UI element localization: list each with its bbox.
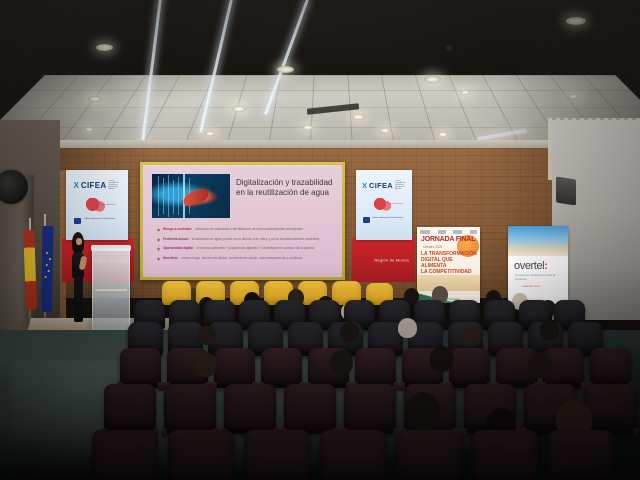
seat[interactable] [214,348,255,388]
ceiling-downlight-9 [205,131,215,136]
overtel-url: overtel.com [522,284,540,288]
audience-head [430,346,454,372]
audience-head [398,318,417,338]
bullet-rest: detección de sustancias e identificación… [195,227,303,232]
seat[interactable] [224,384,276,434]
slide-bullet-item: ◆ Beneficio: menor riesgo, decisiones fi… [157,256,332,261]
eu-flag-chip-right [363,217,370,223]
seat[interactable] [120,348,161,388]
flag-spain [23,230,37,310]
event-poster: JORNADA FINAL Octubre 2025 LA TRANSFORMA… [417,227,480,303]
audience-head [528,352,552,378]
seat[interactable] [396,430,462,480]
cifea-x-icon: X [74,181,79,190]
lectern-shelf [95,289,127,291]
bullet-dot-icon: ◆ [157,237,160,242]
ceiling-sprinkler [446,45,452,51]
projection-screen: Digitalización y trazabilidad en la reut… [143,165,342,277]
audience-head [540,320,559,340]
poster-date: Octubre 2025 [423,245,442,249]
poster-subheading: LA TRANSFORMACIÓN DIGITAL QUE ALIMENTA L… [421,251,477,275]
cifea-wordmark: CIFEA [81,181,107,190]
audience-head [462,326,481,346]
seat[interactable] [320,430,386,480]
presenter [70,232,87,324]
slide-bullet-item: ◆ Riesgo a controlar: detección de susta… [157,227,332,232]
overtel-sky-graphic [508,226,568,256]
murcia-map-label-right: Región de Murcia [387,203,403,205]
seat[interactable] [584,384,636,434]
eu-flag-chip-left [74,218,81,224]
cifea-sub-right: Centros Integrados de Formación y Experi… [395,180,406,190]
slide-title-line1: Digitalización y trazabilidad [236,178,336,188]
seat[interactable] [344,384,396,434]
cifea-logo-left: X CIFEA Centros Integrados de Formación … [74,180,121,190]
seat[interactable] [590,348,631,388]
audience-head [194,352,217,377]
ceiling-downlight-7 [352,114,365,120]
seat-row-6 [92,430,614,480]
seat[interactable] [168,430,234,480]
slide-bullet-item: ◆ Oportunidad digital: sensórica avanzad… [157,246,332,251]
eu-text-right: Cofinanciado por la Unión Europea [372,217,408,220]
bullet-lead: Problema actual: [163,237,189,242]
audience-head [330,350,353,375]
audience-head [198,326,216,345]
poster-band [417,275,480,291]
slide-title: Digitalización y trazabilidad en la reut… [236,178,336,198]
ceiling-downlight-13 [460,90,470,95]
ceiling-downlight-5 [88,96,102,102]
bullet-rest: sensórica avanzada + plataformas digital… [197,246,315,251]
audience-head [406,392,440,430]
overtel-tagline: soluciones inteligentes para la industri… [515,273,563,281]
bullet-lead: Oportunidad digital: [163,246,193,251]
seat[interactable] [244,430,310,480]
seat[interactable] [164,384,216,434]
poster-subheading-line2: DIGITAL QUE ALIMENTA [421,257,477,269]
presenter-face [76,238,82,245]
cifea-logo-right: X CIFEA Centros Integrados de Formación … [362,180,406,190]
red-banner-right-label: Región de Murcia [374,258,409,263]
auditorium-photo: Región de Murcia Región de Murcia X CIFE… [0,0,640,480]
flag-eu [41,226,53,312]
bullet-rest: menor riesgo, decisiones fiables, cumpli… [182,256,303,261]
presenter-legs [74,276,83,322]
overtel-wordmark: overtel [514,260,544,272]
poster-heading: JORNADA FINAL [421,236,475,243]
bullet-dot-icon: ◆ [157,246,160,251]
seat[interactable] [284,384,336,434]
ceiling-downlight-8 [84,127,94,132]
slide-bullet-list: ◆ Riesgo a controlar: detección de susta… [157,227,332,265]
slide-bullet-item: ◆ Problema actual: la detección en agua … [157,237,332,242]
droplet-shape [182,188,210,207]
ceiling-downlight-1 [96,44,113,51]
seat[interactable] [472,430,538,480]
red-banner-right: Región de Murcia [352,238,415,282]
presenter-arm [79,256,88,271]
rollup-banner-right: X CIFEA Centros Integrados de Formación … [356,170,412,240]
projection-screen-frame: Digitalización y trazabilidad en la reut… [140,162,345,280]
bullet-lead: Beneficio: [163,256,178,261]
lectern-top [91,245,131,251]
overtel-logo: overtel: [514,260,547,272]
cifea-sub-left: Centros Integrados de Formación y Experi… [108,180,120,190]
rollup-banner-left: X CIFEA Centros Integrados de Formación … [66,170,128,240]
ceiling-downlight-6 [232,106,246,112]
murcia-map-label-left: Región de Murcia [100,204,116,206]
overtel-accent-icon: : [544,260,547,272]
seat[interactable] [355,348,396,388]
slide-photo-water-droplet [152,174,230,218]
lectern-podium [92,248,130,332]
bullet-dot-icon: ◆ [157,256,160,261]
ceiling-downlight-10 [303,125,313,130]
bullet-lead: Riesgo a controlar: [163,227,192,232]
ceiling-downlight-11 [380,128,390,133]
seat[interactable] [261,348,302,388]
eu-text-left: Cofinanciado por la Unión Europea [84,218,124,221]
ceiling-downlight-12 [438,132,448,137]
cifea-x-icon-right: X [362,181,367,190]
ceiling-downlight-3 [424,76,441,83]
cifea-wordmark-right: CIFEA [369,181,393,190]
wall-loudspeaker [556,176,576,205]
slide-title-line2: en la reutilización de agua [236,188,336,198]
ceiling-downlight-2 [277,66,294,73]
bullet-dot-icon: ◆ [157,227,160,232]
flag-group [22,210,62,326]
seat[interactable] [449,348,490,388]
seat[interactable] [92,430,158,480]
ceiling-downlight-4 [566,17,586,25]
seat[interactable] [548,430,614,480]
seat[interactable] [104,384,156,434]
ceiling-downlight-14 [568,94,579,99]
audience-head [340,322,359,342]
bullet-rest: la detección en agua y suelo no es direc… [192,237,320,242]
